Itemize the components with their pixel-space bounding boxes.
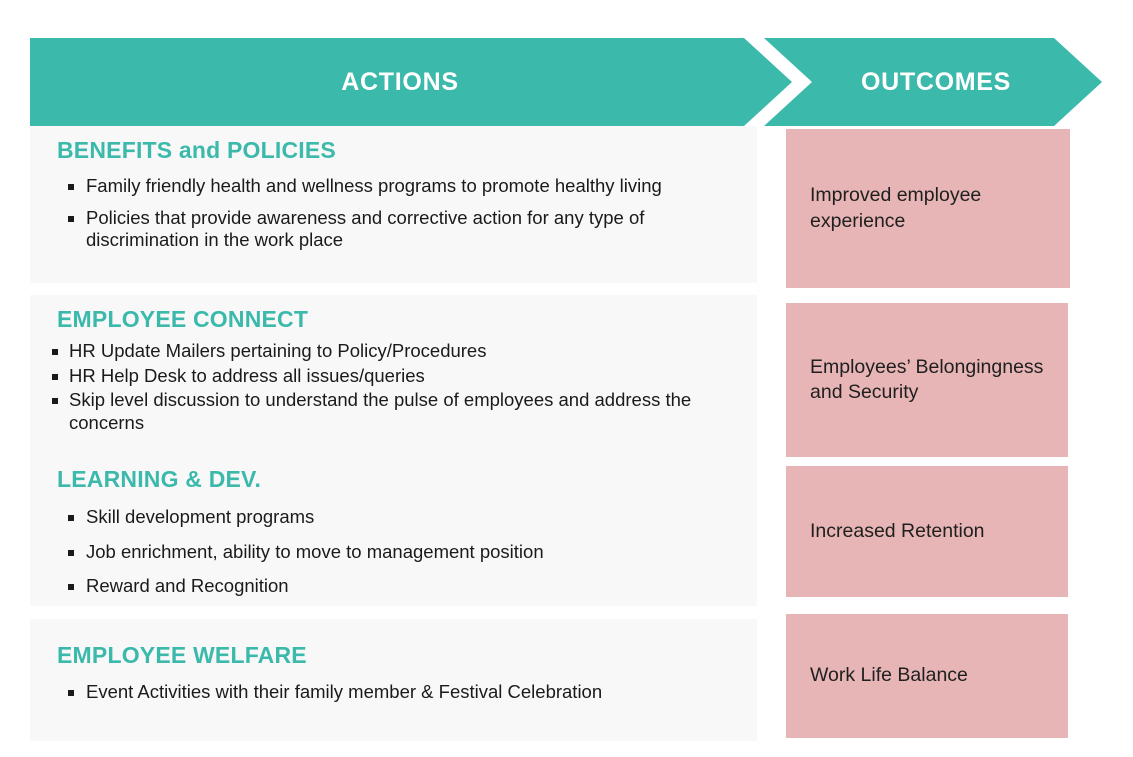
bullet-text: HR Update Mailers pertaining to Policy/P… (69, 340, 757, 363)
square-bullet-icon (68, 550, 74, 556)
square-bullet-icon (68, 690, 74, 696)
list-item: HR Update Mailers pertaining to Policy/P… (30, 340, 757, 363)
bullet-list: Event Activities with their family membe… (30, 681, 757, 704)
bullet-text: Skip level discussion to understand the … (69, 389, 757, 434)
bullet-list: Family friendly health and wellness prog… (30, 175, 757, 252)
outcome-text: Improved employee experience (786, 183, 1070, 234)
outcome-card: Increased Retention (786, 466, 1068, 597)
square-bullet-icon (68, 515, 74, 521)
list-item: Event Activities with their family membe… (30, 681, 757, 704)
list-item: Skill development programs (30, 506, 757, 529)
diagram-canvas: ACTIONS OUTCOMES BENEFITS and POLICIES F… (0, 0, 1133, 757)
bullet-list: Skill development programs Job enrichmen… (30, 506, 757, 598)
square-bullet-icon (52, 374, 58, 380)
outcomes-arrow-body (764, 38, 1102, 126)
action-section-employee-welfare: EMPLOYEE WELFARE Event Activities with t… (30, 619, 757, 741)
list-item: Family friendly health and wellness prog… (30, 175, 757, 198)
outcome-card: Work Life Balance (786, 614, 1068, 738)
outcome-card: Employees’ Belongingness and Security (786, 303, 1068, 457)
action-section-learning-and-dev: LEARNING & DEV. Skill development progra… (30, 453, 757, 606)
bullet-text: Skill development programs (86, 506, 757, 529)
bullet-text: Family friendly health and wellness prog… (86, 175, 757, 198)
outcome-text: Employees’ Belongingness and Security (786, 355, 1068, 406)
section-title: BENEFITS and POLICIES (57, 137, 757, 164)
square-bullet-icon (52, 349, 58, 355)
list-item: Job enrichment, ability to move to manag… (30, 541, 757, 564)
outcome-text: Increased Retention (786, 519, 997, 544)
bullet-list: HR Update Mailers pertaining to Policy/P… (30, 340, 757, 434)
bullet-text: Policies that provide awareness and corr… (86, 207, 757, 252)
section-title: LEARNING & DEV. (57, 466, 757, 493)
outcome-text: Work Life Balance (786, 663, 980, 688)
bullet-text: HR Help Desk to address all issues/queri… (69, 365, 757, 388)
actions-arrow-shape (30, 38, 792, 126)
square-bullet-icon (68, 216, 74, 222)
list-item: Skip level discussion to understand the … (30, 389, 757, 434)
action-section-employee-connect: EMPLOYEE CONNECT HR Update Mailers perta… (30, 295, 757, 453)
square-bullet-icon (68, 584, 74, 590)
header-banner: ACTIONS OUTCOMES (30, 38, 1102, 126)
bullet-text: Job enrichment, ability to move to manag… (86, 541, 757, 564)
list-item: Policies that provide awareness and corr… (30, 207, 757, 252)
action-section-benefits-and-policies: BENEFITS and POLICIES Family friendly he… (30, 126, 757, 283)
section-title: EMPLOYEE WELFARE (57, 642, 757, 669)
outcome-card: Improved employee experience (786, 129, 1070, 288)
list-item: Reward and Recognition (30, 575, 757, 598)
list-item: HR Help Desk to address all issues/queri… (30, 365, 757, 388)
bullet-text: Event Activities with their family membe… (86, 681, 757, 704)
square-bullet-icon (68, 184, 74, 190)
bullet-text: Reward and Recognition (86, 575, 757, 598)
square-bullet-icon (52, 398, 58, 404)
section-title: EMPLOYEE CONNECT (57, 306, 757, 333)
